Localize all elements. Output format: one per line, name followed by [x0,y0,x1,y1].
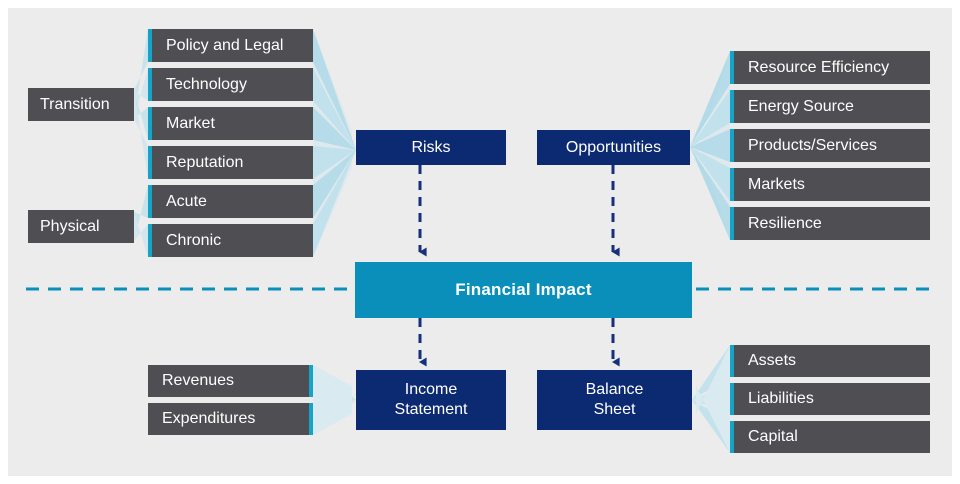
risk-driver-acute[interactable]: Acute [148,185,313,218]
risk-driver-reputation[interactable]: Reputation [148,146,313,179]
risk-driver-label: Market [166,115,215,133]
income-input-expenditures[interactable]: Expenditures [148,403,313,435]
opportunity-driver-label: Products/Services [748,137,877,155]
opportunity-driver-energy-source[interactable]: Energy Source [730,90,930,123]
balance-input-capital[interactable]: Capital [730,421,930,453]
balance-input-label: Capital [748,428,798,446]
opportunity-driver-resilience[interactable]: Resilience [730,207,930,240]
risk-driver-label: Acute [166,193,207,211]
risk-driver-label: Technology [166,76,247,94]
diagram-canvas: Transition Physical Policy and Legal Tec… [0,0,960,484]
risk-driver-market[interactable]: Market [148,107,313,140]
category-box-physical[interactable]: Physical [28,210,134,243]
income-input-label: Revenues [162,372,234,390]
hub-financial-impact-label: Financial Impact [455,280,591,300]
statement-balance[interactable]: Balance Sheet [537,370,692,430]
income-input-revenues[interactable]: Revenues [148,365,313,397]
opportunity-driver-label: Markets [748,176,805,194]
hub-opportunities-label: Opportunities [566,138,661,158]
risk-driver-technology[interactable]: Technology [148,68,313,101]
opportunity-driver-products-services[interactable]: Products/Services [730,129,930,162]
income-input-label: Expenditures [162,410,255,428]
opportunity-driver-label: Resilience [748,215,822,233]
statement-income[interactable]: Income Statement [356,370,506,430]
opportunity-driver-markets[interactable]: Markets [730,168,930,201]
category-label-transition: Transition [40,96,110,114]
category-box-transition[interactable]: Transition [28,88,134,121]
statement-balance-line2: Sheet [594,400,636,420]
hub-financial-impact[interactable]: Financial Impact [355,262,692,318]
statement-income-line2: Statement [395,400,468,420]
statement-income-line1: Income [405,380,457,400]
risk-driver-label: Policy and Legal [166,37,283,55]
risk-driver-label: Reputation [166,154,243,172]
risk-driver-policy-and-legal[interactable]: Policy and Legal [148,29,313,62]
risk-driver-chronic[interactable]: Chronic [148,224,313,257]
hub-opportunities[interactable]: Opportunities [537,130,690,165]
balance-input-label: Liabilities [748,390,814,408]
balance-input-liabilities[interactable]: Liabilities [730,383,930,415]
hub-risks[interactable]: Risks [356,130,506,165]
balance-input-assets[interactable]: Assets [730,345,930,377]
balance-input-label: Assets [748,352,796,370]
hub-risks-label: Risks [411,138,450,158]
statement-balance-line1: Balance [586,380,644,400]
opportunity-driver-label: Energy Source [748,98,854,116]
opportunity-driver-label: Resource Efficiency [748,59,889,77]
opportunity-driver-resource-efficiency[interactable]: Resource Efficiency [730,51,930,84]
risk-driver-label: Chronic [166,232,221,250]
category-label-physical: Physical [40,218,100,236]
